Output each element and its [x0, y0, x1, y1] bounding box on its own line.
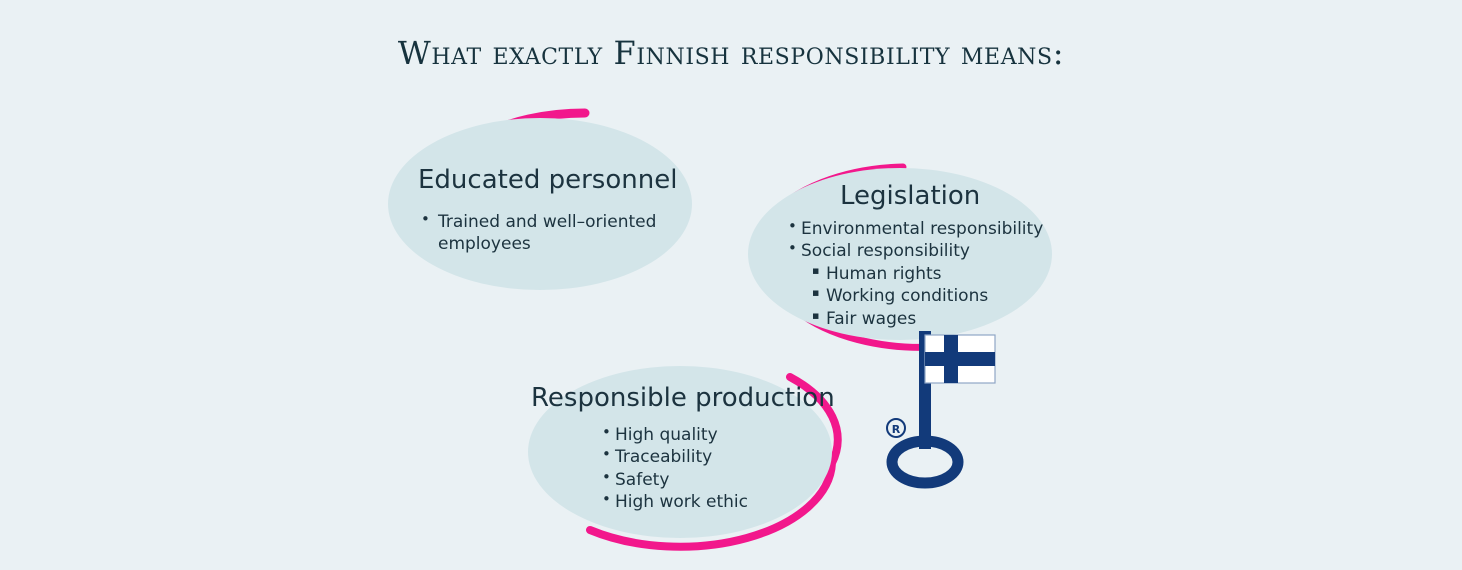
registered-trademark-icon: R [887, 419, 905, 437]
list-item: Environmental responsibility [786, 218, 1056, 240]
list-item: Working conditions [786, 285, 1056, 307]
bubble-list-legislation: Environmental responsibility Social resp… [786, 218, 1056, 330]
bubble-list-educated-personnel: Trained and well–oriented employees [420, 211, 672, 256]
list-item: High work ethic [600, 491, 820, 513]
bubble-ellipse-educated-personnel [388, 118, 692, 290]
list-item: Trained and well–oriented employees [420, 211, 672, 256]
infographic-canvas: What exactly Finnish responsibility mean… [0, 0, 1462, 570]
list-item: Traceability [600, 446, 820, 468]
avainlippu-key-flag-icon: R [880, 325, 1010, 490]
bubble-list-responsible-production: High quality Traceability Safety High wo… [600, 424, 820, 514]
list-item: Social responsibility [786, 240, 1056, 262]
list-item: High quality [600, 424, 820, 446]
bubble-title-responsible-production: Responsible production [531, 384, 835, 412]
bubble-title-educated-personnel: Educated personnel [418, 166, 677, 194]
bubble-title-legislation: Legislation [840, 182, 980, 210]
svg-text:R: R [892, 423, 901, 436]
list-item: Human rights [786, 263, 1056, 285]
flag-cross-horizontal [925, 352, 995, 366]
finnish-flag [925, 335, 995, 383]
list-item: Safety [600, 469, 820, 491]
